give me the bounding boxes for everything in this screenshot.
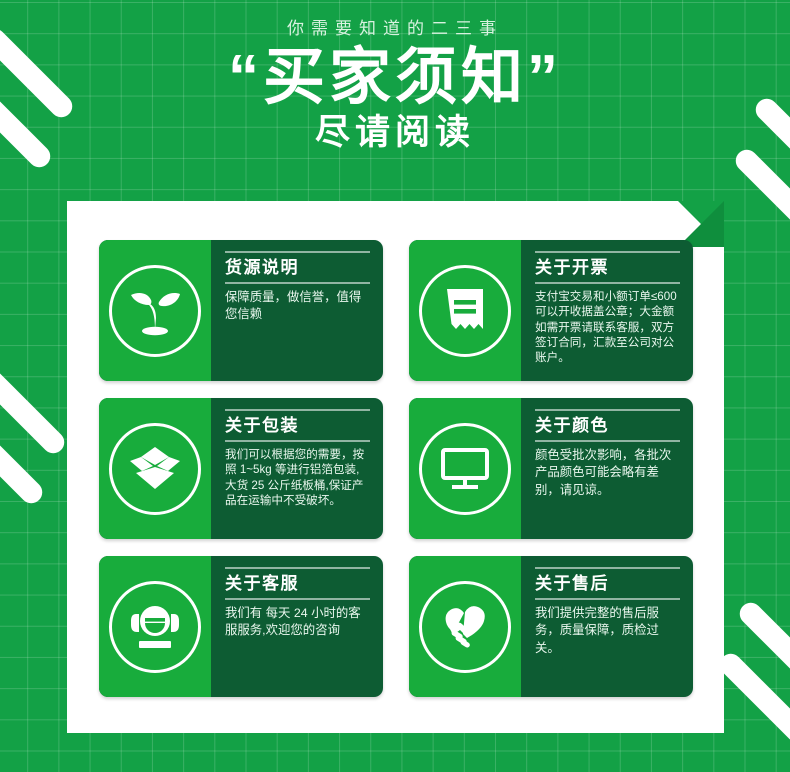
card-icon-block bbox=[99, 240, 211, 381]
info-card[interactable]: 关于包装 我们可以根据您的需要，按照 1~5kg 等进行铝箔包装,大货 25 公… bbox=[99, 398, 383, 539]
info-card-grid: 货源说明 保障质量，做信誉，值得您信赖 关于开票 支付宝交易和小额订单≤600可… bbox=[99, 240, 693, 697]
card-text: 我们提供完整的售后服务，质量保障，质检过关。 bbox=[535, 605, 680, 658]
card-icon-block bbox=[99, 556, 211, 697]
info-card[interactable]: 关于开票 支付宝交易和小额订单≤600可以开收据盖公章；大金额如需开票请联系客服… bbox=[409, 240, 693, 381]
card-body: 关于客服 我们有 每天 24 小时的客服服务,欢迎您的咨询 bbox=[211, 556, 383, 697]
card-text: 颜色受批次影响，各批次产品颜色可能会略有差别，请见谅。 bbox=[535, 447, 680, 500]
headset-support-icon bbox=[109, 581, 201, 673]
info-card[interactable]: 货源说明 保障质量，做信誉，值得您信赖 bbox=[99, 240, 383, 381]
card-title: 关于客服 bbox=[225, 567, 370, 600]
card-icon-block bbox=[409, 556, 521, 697]
page-subtitle: 尽请阅读 bbox=[0, 114, 790, 153]
monitor-icon bbox=[419, 423, 511, 515]
card-body: 关于售后 我们提供完整的售后服务，质量保障，质检过关。 bbox=[521, 556, 693, 697]
page-title: “买家须知” bbox=[0, 43, 790, 112]
card-text: 我们可以根据您的需要，按照 1~5kg 等进行铝箔包装,大货 25 公斤纸板桶,… bbox=[225, 447, 370, 509]
header-eyebrow-text: 你需要知道的二三事 bbox=[0, 0, 790, 39]
card-text: 支付宝交易和小额订单≤600可以开收据盖公章；大金额如需开票请联系客服，双方签订… bbox=[535, 289, 680, 366]
card-title: 关于包装 bbox=[225, 409, 370, 442]
card-icon-block bbox=[99, 398, 211, 539]
info-card[interactable]: 关于客服 我们有 每天 24 小时的客服服务,欢迎您的咨询 bbox=[99, 556, 383, 697]
card-title: 关于开票 bbox=[535, 251, 680, 284]
card-body: 关于包装 我们可以根据您的需要，按照 1~5kg 等进行铝箔包装,大货 25 公… bbox=[211, 398, 383, 539]
card-body: 货源说明 保障质量，做信誉，值得您信赖 bbox=[211, 240, 383, 381]
card-title: 关于售后 bbox=[535, 567, 680, 600]
card-body: 关于开票 支付宝交易和小额订单≤600可以开收据盖公章；大金额如需开票请联系客服… bbox=[521, 240, 693, 381]
card-icon-block bbox=[409, 240, 521, 381]
info-card[interactable]: 关于颜色 颜色受批次影响，各批次产品颜色可能会略有差别，请见谅。 bbox=[409, 398, 693, 539]
header-banner: 你需要知道的二三事 “买家须知” 尽请阅读 bbox=[0, 0, 790, 153]
card-text: 保障质量，做信誉，值得您信赖 bbox=[225, 289, 370, 324]
card-body: 关于颜色 颜色受批次影响，各批次产品颜色可能会略有差别，请见谅。 bbox=[521, 398, 693, 539]
card-title: 关于颜色 bbox=[535, 409, 680, 442]
info-card[interactable]: 关于售后 我们提供完整的售后服务，质量保障，质检过关。 bbox=[409, 556, 693, 697]
card-text: 我们有 每天 24 小时的客服服务,欢迎您的咨询 bbox=[225, 605, 370, 640]
receipt-icon bbox=[419, 265, 511, 357]
card-icon-block bbox=[409, 398, 521, 539]
sprout-icon bbox=[109, 265, 201, 357]
open-box-icon bbox=[109, 423, 201, 515]
card-title: 货源说明 bbox=[225, 251, 370, 284]
handshake-icon bbox=[419, 581, 511, 673]
